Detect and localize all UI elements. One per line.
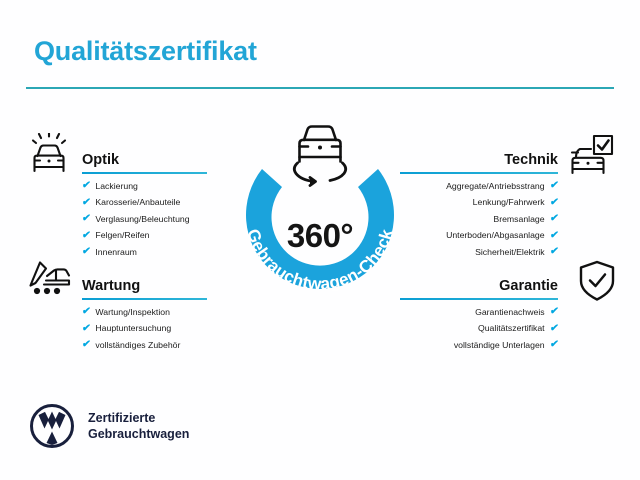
list-item-label: Aggregate/Antriebsstrang xyxy=(446,182,545,191)
list-item-label: Verglasung/Beleuchtung xyxy=(95,215,189,224)
shield-check-icon xyxy=(573,259,621,303)
list-item: ✔Verglasung/Beleuchtung xyxy=(82,214,207,224)
car-front-rotate-icon xyxy=(280,116,360,188)
section-divider xyxy=(82,172,207,174)
list-item-label: Qualitätszertifikat xyxy=(478,324,545,333)
list-item-label: Sicherheit/Elektrik xyxy=(475,248,545,257)
section-divider xyxy=(82,298,207,300)
footer-line-2: Gebrauchtwagen xyxy=(88,426,189,442)
section-header: Optik xyxy=(82,144,207,174)
list-item-label: Lackierung xyxy=(95,182,138,191)
list-item-label: Innenraum xyxy=(95,248,137,257)
checklist-technik: Aggregate/Antriebsstrang✔ Lenkung/Fahrwe… xyxy=(400,181,558,257)
section-technik: Technik Aggregate/Antriebsstrang✔ Lenkun… xyxy=(400,144,558,264)
section-divider xyxy=(400,298,558,300)
checklist-garantie: Garantienachweis✔ Qualitätszertifikat✔ v… xyxy=(400,307,558,350)
check-icon: ✔ xyxy=(81,307,91,317)
check-icon: ✔ xyxy=(81,214,91,224)
list-item-label: Karosserie/Anbauteile xyxy=(95,198,180,207)
list-item: Unterboden/Abgasanlage✔ xyxy=(400,231,558,241)
list-item-label: Garantienachweis xyxy=(475,308,545,317)
list-item-label: Wartung/Inspektion xyxy=(95,308,170,317)
check-icon: ✔ xyxy=(81,247,91,257)
section-wartung: Wartung ✔Wartung/Inspektion ✔Hauptunters… xyxy=(82,270,207,357)
checklist-optik: ✔Lackierung ✔Karosserie/Anbauteile ✔Verg… xyxy=(82,181,207,257)
section-header: Technik xyxy=(400,144,558,174)
list-item: ✔Karosserie/Anbauteile xyxy=(82,198,207,208)
check-icon: ✔ xyxy=(549,307,559,317)
list-item: ✔Wartung/Inspektion xyxy=(82,307,207,317)
service-book-pen-icon xyxy=(25,259,73,303)
list-item: ✔Hauptuntersuchung xyxy=(82,324,207,334)
check-icon: ✔ xyxy=(549,198,559,208)
list-item: Qualitätszertifikat✔ xyxy=(400,324,558,334)
certificate-page: Qualitätszertifikat xyxy=(0,0,640,480)
page-title: Qualitätszertifikat xyxy=(34,36,257,67)
list-item-label: Unterboden/Abgasanlage xyxy=(446,231,545,240)
check-icon: ✔ xyxy=(81,181,91,191)
section-title-wartung: Wartung xyxy=(82,278,140,294)
list-item: ✔Lackierung xyxy=(82,181,207,191)
list-item: Sicherheit/Elektrik✔ xyxy=(400,247,558,257)
section-title-optik: Optik xyxy=(82,152,119,168)
list-item-label: vollständiges Zubehör xyxy=(95,341,180,350)
checklist-wartung: ✔Wartung/Inspektion ✔Hauptuntersuchung ✔… xyxy=(82,307,207,350)
section-divider xyxy=(400,172,558,174)
list-item: ✔Felgen/Reifen xyxy=(82,231,207,241)
section-optik: Optik ✔Lackierung ✔Karosserie/Anbauteile… xyxy=(82,144,207,264)
list-item: Garantienachweis✔ xyxy=(400,307,558,317)
section-garantie: Garantie Garantienachweis✔ Qualitätszert… xyxy=(400,270,558,357)
list-item: ✔vollständiges Zubehör xyxy=(82,340,207,350)
list-item-label: vollständige Unterlagen xyxy=(454,341,545,350)
check-icon: ✔ xyxy=(81,324,91,334)
list-item-label: Lenkung/Fahrwerk xyxy=(473,198,545,207)
list-item: vollständige Unterlagen✔ xyxy=(400,340,558,350)
check-icon: ✔ xyxy=(81,340,91,350)
footer-line-1: Zertifizierte xyxy=(88,410,189,426)
list-item-label: Bremsanlage xyxy=(493,215,544,224)
badge-center-label: 360° xyxy=(224,217,416,255)
check-icon: ✔ xyxy=(549,340,559,350)
footer-text: Zertifizierte Gebrauchtwagen xyxy=(88,410,189,442)
car-checkbox-icon xyxy=(567,133,615,177)
check-icon: ✔ xyxy=(549,247,559,257)
check-icon: ✔ xyxy=(549,181,559,191)
header-divider xyxy=(26,87,614,89)
section-title-technik: Technik xyxy=(504,152,558,168)
check-icon: ✔ xyxy=(549,324,559,334)
list-item-label: Hauptuntersuchung xyxy=(95,324,171,333)
check-icon: ✔ xyxy=(549,231,559,241)
check-icon: ✔ xyxy=(81,198,91,208)
section-title-garantie: Garantie xyxy=(499,278,558,294)
badge-360-gebrauchtwagen-check: Gebrauchtwagen-Check 360° xyxy=(224,113,416,313)
section-header: Garantie xyxy=(400,270,558,300)
list-item: ✔Innenraum xyxy=(82,247,207,257)
vw-logo-icon xyxy=(30,404,74,448)
footer-brand: Zertifizierte Gebrauchtwagen xyxy=(30,404,189,448)
section-header: Wartung xyxy=(82,270,207,300)
list-item: Lenkung/Fahrwerk✔ xyxy=(400,198,558,208)
check-icon: ✔ xyxy=(81,231,91,241)
car-polish-icon xyxy=(25,133,73,177)
check-icon: ✔ xyxy=(549,214,559,224)
list-item: Aggregate/Antriebsstrang✔ xyxy=(400,181,558,191)
list-item: Bremsanlage✔ xyxy=(400,214,558,224)
list-item-label: Felgen/Reifen xyxy=(95,231,149,240)
